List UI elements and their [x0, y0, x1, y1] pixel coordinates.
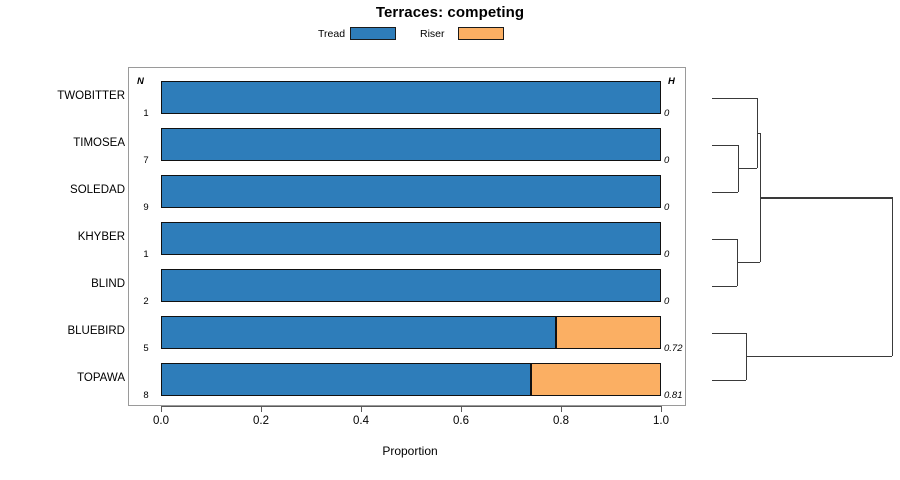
- bar-row: [161, 175, 661, 208]
- legend-label-tread: Tread: [318, 26, 345, 42]
- bar-segment-tread: [161, 363, 531, 396]
- dendrogram-branch: [892, 197, 893, 356]
- legend-swatch-tread: [350, 27, 396, 40]
- dendrogram-branch: [712, 380, 746, 381]
- x-tick-label: 0.6: [441, 415, 481, 427]
- dendrogram-branch: [737, 262, 760, 263]
- n-value-twobitter: 1: [135, 108, 157, 119]
- x-tick-label: 0.2: [241, 415, 281, 427]
- h-value-khyber: 0: [664, 249, 704, 260]
- bar-segment-riser: [556, 316, 661, 349]
- bar-row: [161, 269, 661, 302]
- x-tick: [561, 406, 562, 412]
- x-tick-label: 0.4: [341, 415, 381, 427]
- legend-swatch-riser: [458, 27, 504, 40]
- n-value-blind: 2: [135, 296, 157, 307]
- h-value-soledad: 0: [664, 202, 704, 213]
- bar-row: [161, 363, 661, 396]
- n-value-timosea: 7: [135, 155, 157, 166]
- legend-label-riser: Riser: [420, 26, 445, 42]
- category-label-khyber: KHYBER: [5, 231, 125, 243]
- bar-segment-tread: [161, 128, 661, 161]
- bar-segment-riser: [531, 363, 661, 396]
- category-label-topawa: TOPAWA: [5, 372, 125, 384]
- category-label-timosea: TIMOSEA: [5, 137, 125, 149]
- x-tick: [661, 406, 662, 412]
- category-label-soledad: SOLEDAD: [5, 184, 125, 196]
- dendrogram-branch: [738, 168, 757, 169]
- h-value-twobitter: 0: [664, 108, 704, 119]
- x-tick-label: 1.0: [641, 415, 681, 427]
- x-tick: [261, 406, 262, 412]
- category-label-twobitter: TWOBITTER: [5, 90, 125, 102]
- bar-segment-tread: [161, 81, 661, 114]
- dendrogram-branch: [746, 356, 892, 357]
- chart-title: Terraces: competing: [0, 4, 900, 21]
- dendrogram-branch: [712, 98, 757, 99]
- n-value-khyber: 1: [135, 249, 157, 260]
- bar-row: [161, 81, 661, 114]
- chart-root: Terraces: competing Tread Riser N H TWOB…: [0, 0, 900, 480]
- bar-segment-tread: [161, 269, 661, 302]
- bar-segment-tread: [161, 222, 661, 255]
- dendrogram-branch: [712, 333, 746, 334]
- bar-segment-tread: [161, 175, 661, 208]
- x-axis-line: [161, 406, 661, 407]
- dendrogram-branch: [712, 145, 738, 146]
- x-tick-label: 0.0: [141, 415, 181, 427]
- column-header-h: H: [668, 76, 675, 87]
- category-label-bluebird: BLUEBIRD: [5, 325, 125, 337]
- n-value-topawa: 8: [135, 390, 157, 401]
- x-tick: [461, 406, 462, 412]
- dendrogram-branch: [712, 239, 737, 240]
- bar-segment-tread: [161, 316, 556, 349]
- dendrogram-branch: [712, 192, 738, 193]
- dendrogram-branch: [712, 286, 737, 287]
- x-tick: [361, 406, 362, 412]
- x-axis-title: Proportion: [0, 444, 820, 458]
- category-label-blind: BLIND: [5, 278, 125, 290]
- x-tick: [161, 406, 162, 412]
- x-tick-label: 0.8: [541, 415, 581, 427]
- h-value-topawa: 0.81: [664, 390, 704, 401]
- h-value-bluebird: 0.72: [664, 343, 704, 354]
- bar-row: [161, 128, 661, 161]
- dendrogram-branch: [760, 197, 892, 198]
- column-header-n: N: [137, 76, 144, 87]
- n-value-soledad: 9: [135, 202, 157, 213]
- n-value-bluebird: 5: [135, 343, 157, 354]
- bar-row: [161, 316, 661, 349]
- h-value-timosea: 0: [664, 155, 704, 166]
- h-value-blind: 0: [664, 296, 704, 307]
- bar-row: [161, 222, 661, 255]
